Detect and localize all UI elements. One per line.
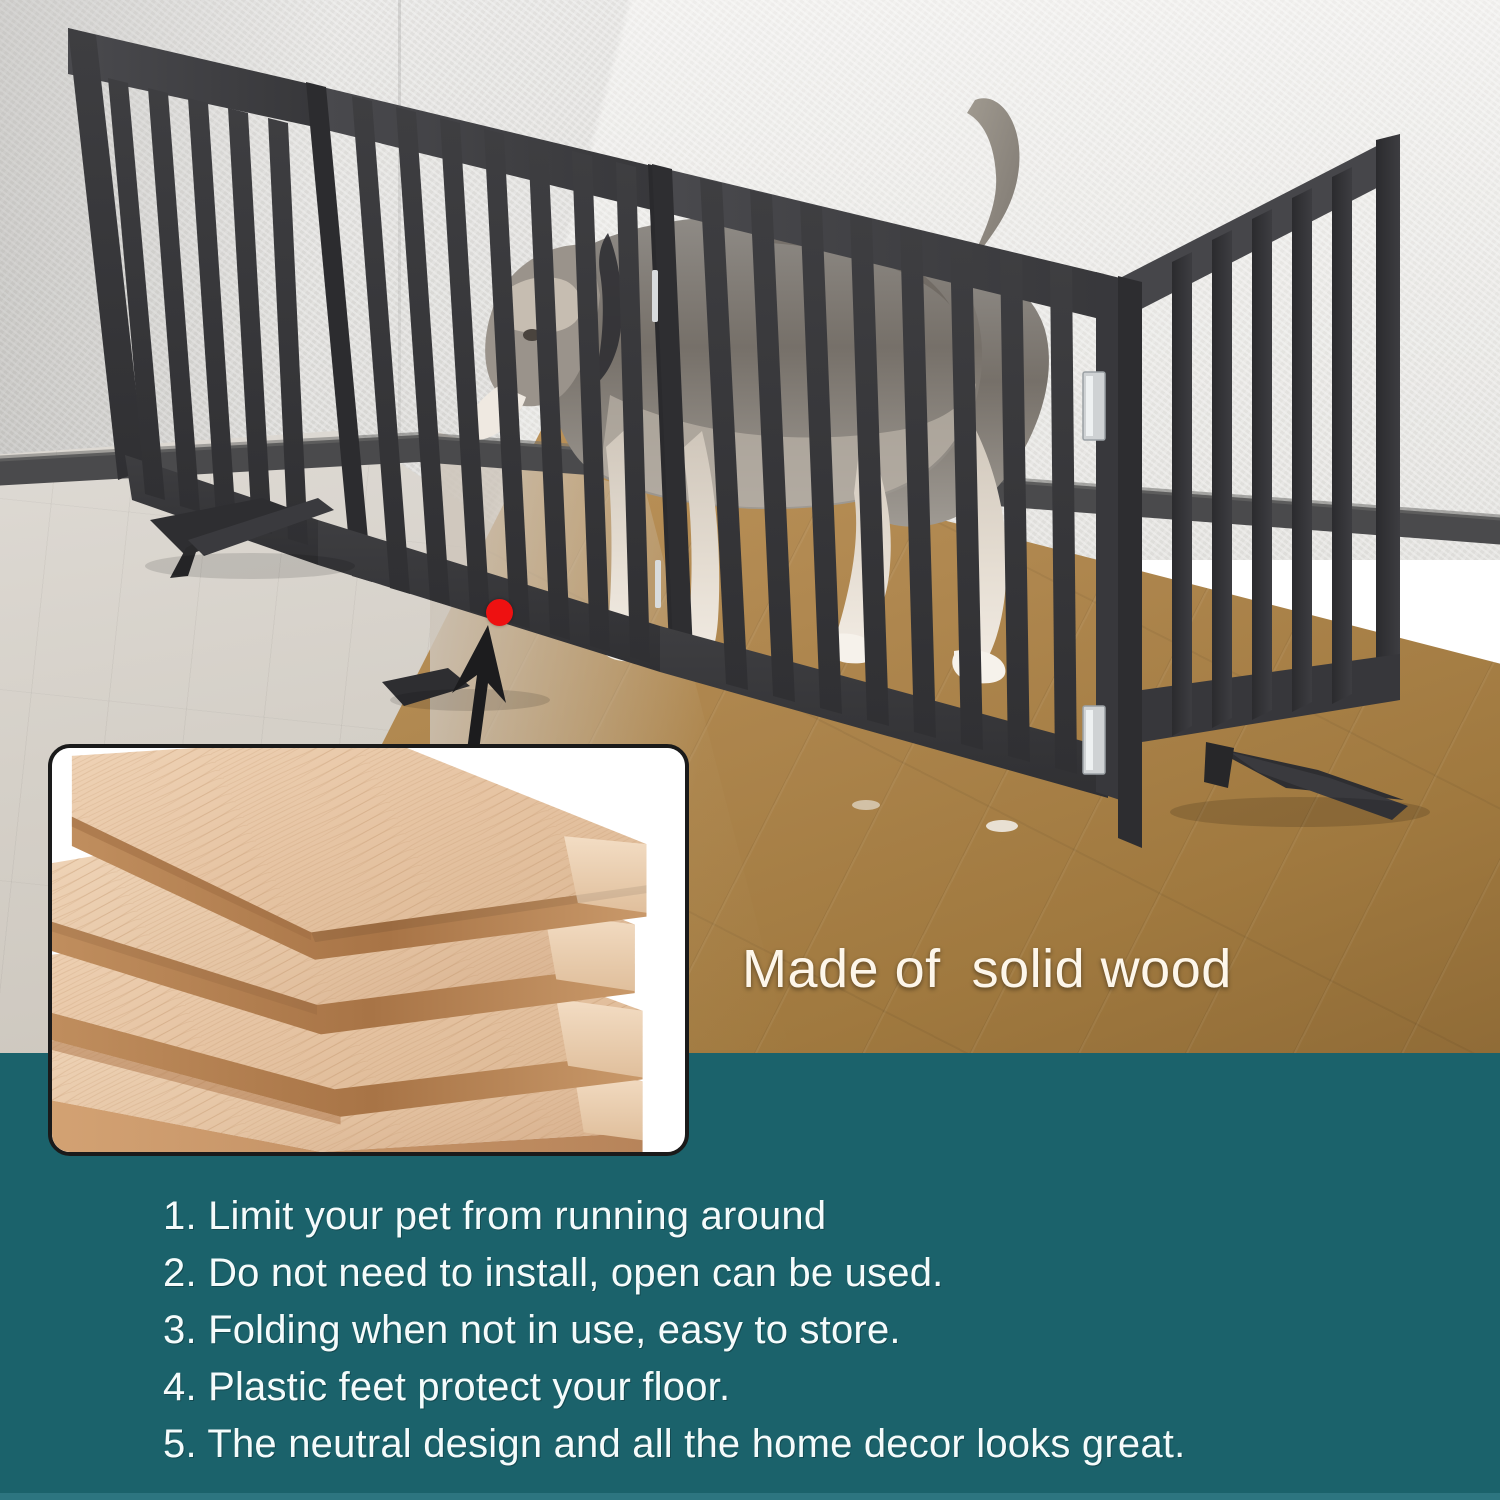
product-infographic: Made of solid wood 1. Limit your pet fro… — [0, 0, 1500, 1500]
feature-item: 3. Folding when not in use, easy to stor… — [163, 1302, 1483, 1359]
feature-item: 1. Limit your pet from running around — [163, 1188, 1483, 1245]
footer-rule — [0, 1493, 1500, 1500]
feature-item: 4. Plastic feet protect your floor. — [163, 1359, 1483, 1416]
feature-list: 1. Limit your pet from running around 2.… — [163, 1188, 1483, 1473]
wood-boards-inset-photo — [48, 744, 689, 1156]
feature-item: 2. Do not need to install, open can be u… — [163, 1245, 1483, 1302]
headline-made-of-solid-wood: Made of solid wood — [742, 938, 1232, 1000]
feature-item: 5. The neutral design and all the home d… — [163, 1416, 1483, 1473]
red-dot-marker — [486, 599, 513, 626]
